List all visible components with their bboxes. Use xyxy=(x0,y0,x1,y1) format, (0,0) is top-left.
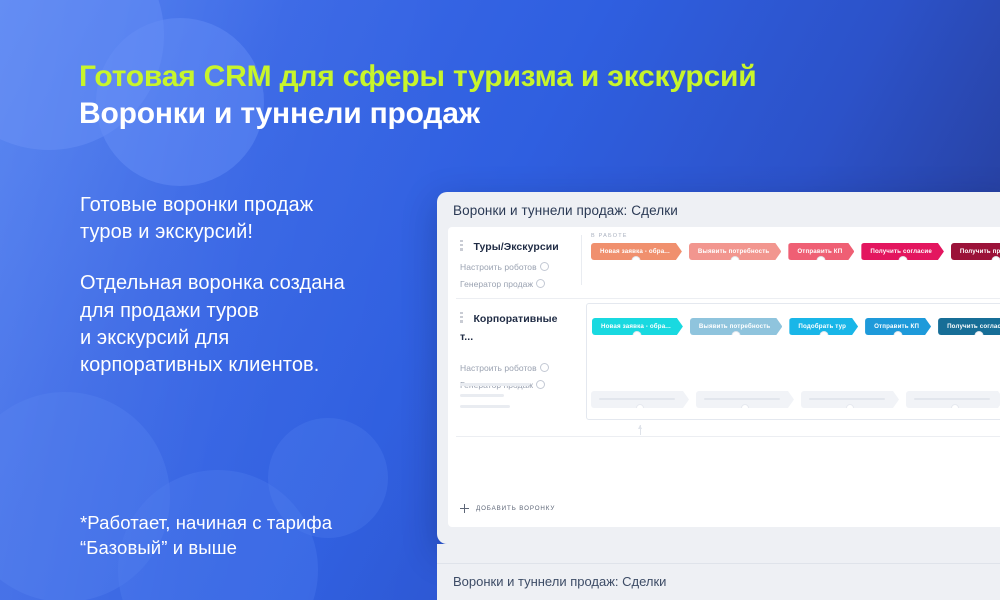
gear-icon[interactable] xyxy=(540,262,549,271)
stage-count-marker xyxy=(894,331,903,340)
stage-chip-label: Отправить КП xyxy=(874,323,919,330)
stage-chip[interactable]: Подобрать тур xyxy=(789,318,858,335)
stage-chip-label: Получить согласие xyxy=(947,323,1000,330)
configure-robots-label: Настроить роботов xyxy=(460,363,537,373)
placeholder-chip-list xyxy=(591,391,1000,408)
stage-count-marker xyxy=(632,256,641,265)
stage-chip-label: Отправить КП xyxy=(797,248,842,255)
stage-group-caption: В работе xyxy=(591,233,1000,239)
copy-para-2-line-2: для продажи туров xyxy=(80,298,430,325)
footnote: *Работает, начиная с тарифа “Базовый” и … xyxy=(80,511,440,561)
stage-chip[interactable]: Получить предопла... xyxy=(951,243,1000,260)
stage-chip-list: Новая заявка - обра...Выявить потребност… xyxy=(592,318,1000,335)
funnel-name: Туры/Экскурсии xyxy=(473,241,558,253)
plus-icon xyxy=(460,504,469,513)
stage-count-marker xyxy=(633,331,642,340)
stage-count-marker xyxy=(975,331,984,340)
body-copy: Готовые воронки продаж туров и экскурсий… xyxy=(80,192,430,379)
footnote-line-2: “Базовый” и выше xyxy=(80,536,440,561)
panel-title: Воронки и туннели продаж: Сделки xyxy=(453,203,678,218)
promo-banner: Готовая CRM для сферы туризма и экскурси… xyxy=(0,0,1000,600)
configure-robots-link[interactable]: Настроить роботов xyxy=(460,262,572,272)
placeholder-chip xyxy=(906,391,1000,408)
stage-chip[interactable]: Получить согласие xyxy=(861,243,944,260)
stage-chip-list: Новая заявка - обра...Выявить потребност… xyxy=(591,243,1000,260)
stage-chip[interactable]: Новая заявка - обра... xyxy=(592,318,683,335)
funnel-name-row[interactable]: Корпоративные т... xyxy=(460,309,572,345)
stage-count-marker xyxy=(817,256,826,265)
placeholder-chip xyxy=(591,391,689,408)
gear-icon[interactable] xyxy=(540,363,549,372)
copy-para-2-line-1: Отдельная воронка создана xyxy=(80,270,430,297)
caption-bar: Воронки и туннели продаж: Сделки xyxy=(437,563,1000,600)
headline-line-1: Готовая CRM для сферы туризма и экскурси… xyxy=(79,59,979,94)
row-divider xyxy=(456,436,1000,437)
stage-chip[interactable]: Выявить потребность xyxy=(690,318,782,335)
copy-para-2-line-3: и экскурсий для xyxy=(80,325,430,352)
stage-chip-label: Новая заявка - обра... xyxy=(600,248,670,255)
caption-divider xyxy=(437,563,1000,564)
stage-count-marker xyxy=(732,331,741,340)
placeholder-meta xyxy=(460,383,572,408)
crm-screenshot-panel: Воронки и туннели продаж: Сделки Туры/Эк… xyxy=(437,192,1000,544)
headline-line-2: Воронки и туннели продаж xyxy=(79,96,979,131)
funnel-row[interactable]: Туры/Экскурсии Настроить роботов Генерат… xyxy=(448,227,1000,299)
sales-generator-label: Генератор продаж xyxy=(460,279,533,289)
drag-handle-icon[interactable] xyxy=(460,240,463,251)
stage-chip[interactable]: Выявить потребность xyxy=(689,243,781,260)
copy-para-2-line-4: корпоративных клиентов. xyxy=(80,352,430,379)
stage-chip-label: Получить предопла... xyxy=(960,248,1000,255)
funnel-name-row[interactable]: Туры/Экскурсии xyxy=(460,237,572,255)
divider xyxy=(581,235,582,285)
funnel-row-placeholder xyxy=(448,377,1000,437)
stage-count-marker xyxy=(819,331,828,340)
placeholder-bar xyxy=(460,394,504,397)
stage-count-marker xyxy=(731,256,740,265)
drag-handle-icon[interactable] xyxy=(460,312,463,323)
stage-pointer-icon xyxy=(640,425,641,435)
placeholder-bar xyxy=(460,405,510,408)
headline: Готовая CRM для сферы туризма и экскурси… xyxy=(79,59,979,131)
add-funnel-button[interactable]: Добавить воронку xyxy=(460,504,555,513)
stage-count-marker xyxy=(898,256,907,265)
stage-chip[interactable]: Отправить КП xyxy=(788,243,854,260)
stage-chip-label: Получить согласие xyxy=(870,248,932,255)
stage-chip-label: Подобрать тур xyxy=(798,323,846,330)
stage-chip-label: Новая заявка - обра... xyxy=(601,323,671,330)
stage-chip-label: Выявить потребность xyxy=(698,248,769,255)
add-funnel-label: Добавить воронку xyxy=(476,505,555,512)
gear-icon[interactable] xyxy=(536,279,545,288)
funnel-list: Туры/Экскурсии Настроить роботов Генерат… xyxy=(448,227,1000,527)
placeholder-chip xyxy=(801,391,899,408)
funnel-name: Корпоративные т... xyxy=(460,313,558,343)
funnel-row[interactable]: Корпоративные т... Настроить роботов Ген… xyxy=(448,299,1000,377)
placeholder-chip xyxy=(696,391,794,408)
copy-para-1-line-1: Готовые воронки продаж xyxy=(80,192,430,219)
stage-chip[interactable]: Отправить КП xyxy=(865,318,931,335)
sales-generator-link[interactable]: Генератор продаж xyxy=(460,279,572,289)
stage-count-marker xyxy=(992,256,1000,265)
stage-chip[interactable]: Получить согласие xyxy=(938,318,1000,335)
configure-robots-label: Настроить роботов xyxy=(460,262,537,272)
panel-bottom-spacer xyxy=(437,544,1000,563)
stage-chip[interactable]: Новая заявка - обра... xyxy=(591,243,682,260)
stage-chip-label: Выявить потребность xyxy=(699,323,770,330)
funnel-meta: Туры/Экскурсии Настроить роботов Генерат… xyxy=(460,237,572,289)
placeholder-bar xyxy=(460,383,530,386)
copy-spacer xyxy=(80,246,430,270)
caption-text: Воронки и туннели продаж: Сделки xyxy=(453,574,666,589)
footnote-line-1: *Работает, начиная с тарифа xyxy=(80,511,440,536)
configure-robots-link[interactable]: Настроить роботов xyxy=(460,363,572,373)
stage-track: В работе Новая заявка - обра...Выявить п… xyxy=(591,233,1000,260)
copy-para-1-line-2: туров и экскурсий! xyxy=(80,219,430,246)
